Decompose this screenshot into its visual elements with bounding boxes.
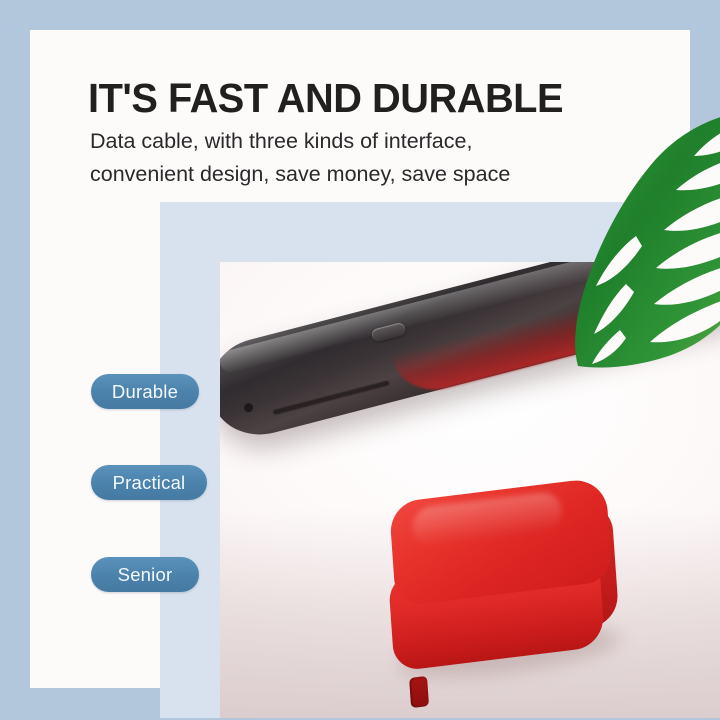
box-highlight	[411, 490, 563, 548]
feature-pill-practical[interactable]: Practical	[91, 465, 207, 500]
cable-organizer-box	[383, 476, 621, 674]
subtitle-line-1: Data cable, with three kinds of interfac…	[90, 125, 630, 158]
phone-speaker-grill	[272, 380, 389, 415]
feature-pill-durable[interactable]: Durable	[91, 374, 199, 409]
subtitle-line-2: convenient design, save money, save spac…	[90, 158, 630, 191]
phone-charging-port	[243, 402, 254, 413]
phone-red-reflection	[391, 269, 720, 399]
content-card: IT'S FAST AND DURABLE Data cable, with t…	[30, 30, 690, 688]
page-subtitle: Data cable, with three kinds of interfac…	[90, 125, 630, 191]
page-title: IT'S FAST AND DURABLE	[88, 74, 631, 122]
product-banner: IT'S FAST AND DURABLE Data cable, with t…	[0, 0, 720, 720]
feature-pill-senior[interactable]: Senior	[91, 557, 199, 592]
smartphone	[220, 262, 720, 446]
box-cable-notch	[409, 676, 429, 708]
product-photo	[220, 262, 720, 718]
